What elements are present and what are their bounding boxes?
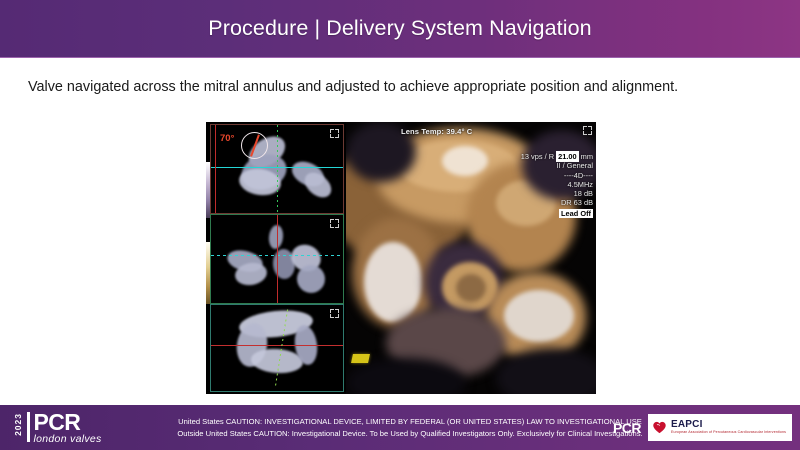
eapci-name: EAPCI (671, 420, 786, 430)
page-title: Procedure | Delivery System Navigation (208, 16, 591, 41)
expand-icon[interactable] (330, 129, 339, 138)
logo-year: 2023 (14, 413, 23, 436)
param-frequency: 4.5MHz (521, 180, 593, 189)
probe-angle-label: 70° (220, 133, 234, 144)
expand-icon[interactable] (330, 309, 339, 318)
param-preset: II / General (521, 161, 593, 170)
param-mode: ----4D---- (521, 171, 593, 180)
lens-temperature-readout: Lens Temp: 39.4° C (401, 127, 472, 136)
logo-divider (27, 412, 30, 442)
slide-header: Procedure | Delivery System Navigation (0, 0, 800, 58)
logo-tagline: london valves (34, 433, 102, 445)
multiplane-view-2[interactable] (210, 214, 344, 304)
slide-footer: 2023 PCR london valves United States CAU… (0, 405, 800, 450)
device-marker (351, 354, 370, 363)
caution-line-1: United States CAUTION: INVESTIGATIONAL D… (150, 416, 670, 428)
param-depth: 13 vps / R 21.00 mm (521, 152, 593, 161)
param-lead-status: Lead Off (559, 209, 593, 218)
param-depth-unit: mm (581, 152, 593, 161)
logo-wordmark: PCR (34, 412, 102, 433)
param-depth-prefix: 13 vps / R (521, 152, 554, 161)
caution-statement: United States CAUTION: INVESTIGATIONAL D… (150, 416, 670, 439)
acquisition-parameters: 13 vps / R 21.00 mm II / General ----4D-… (521, 152, 593, 218)
slide-description: Valve navigated across the mitral annulu… (28, 78, 773, 96)
expand-icon[interactable] (330, 219, 339, 228)
echocardiography-image: 70° (206, 122, 596, 394)
pcr-mark: PCR (613, 420, 641, 436)
volume-render-panel[interactable]: Lens Temp: 39.4° C 13 vps / R 21.00 mm I… (346, 122, 596, 394)
eapci-subtitle: European Association of Percutaneous Car… (671, 431, 786, 435)
eapci-logo: EAPCI European Association of Percutaneo… (648, 414, 792, 441)
multiplane-view-1[interactable]: 70° (210, 124, 344, 214)
heart-icon (652, 420, 667, 435)
partner-logos: PCR EAPCI European Association of Percut… (613, 414, 792, 441)
pcr-london-valves-logo: 2023 PCR london valves (14, 412, 102, 444)
probe-angle-dial-icon (241, 132, 268, 159)
multiplane-view-3[interactable] (210, 304, 344, 392)
multiplane-panel-group: 70° (206, 122, 346, 394)
param-dynamic-range: DR 63 dB (521, 198, 593, 207)
caution-line-2: Outside United States CAUTION: Investiga… (150, 428, 670, 440)
expand-icon[interactable] (583, 126, 592, 135)
